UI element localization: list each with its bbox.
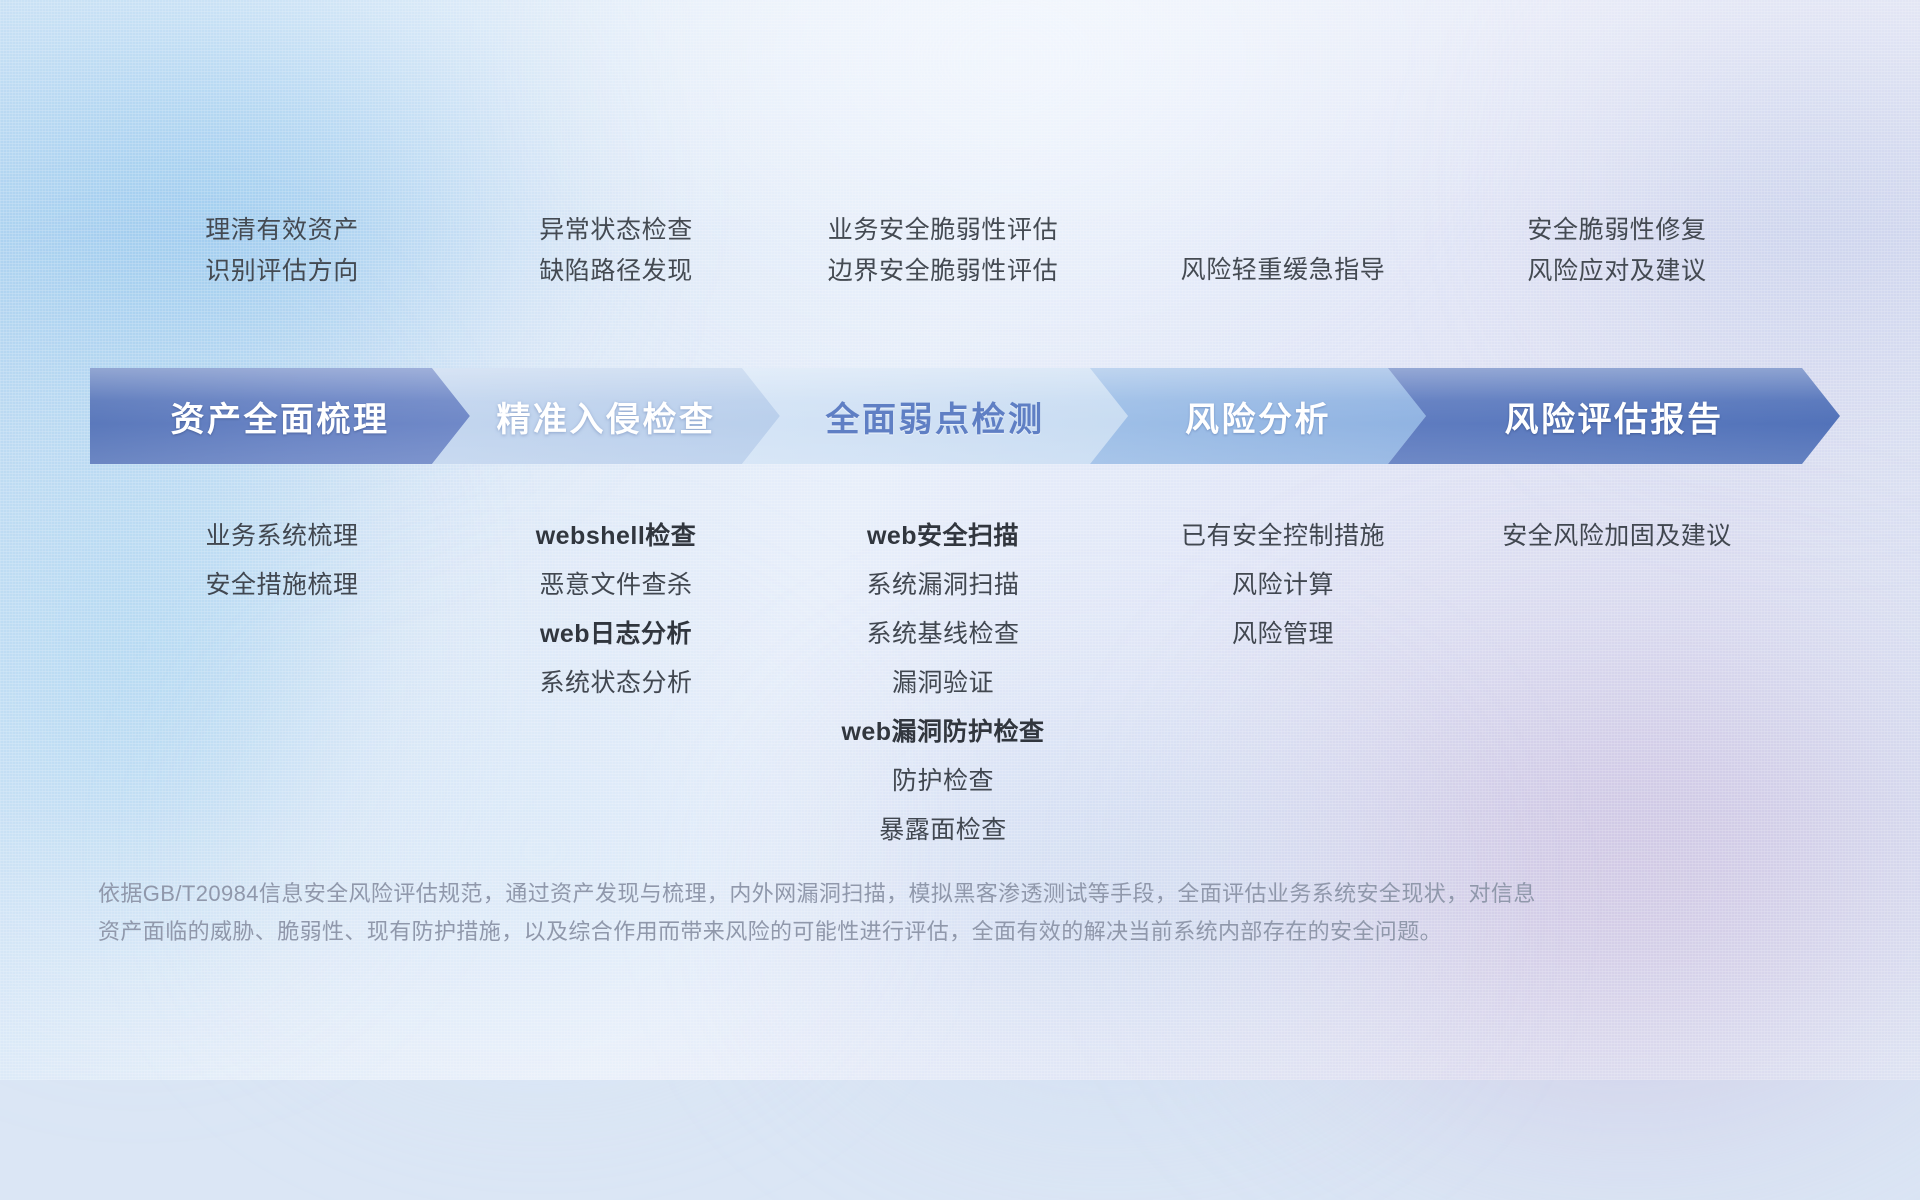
list-item: 漏洞验证 [892, 659, 994, 708]
list-item: 安全风险加固及建议 [1502, 512, 1732, 561]
top-note: 风险轻重缓急指导 [1181, 258, 1386, 283]
list-item: 安全措施梳理 [205, 561, 358, 610]
top-note: 安全脆弱性修复 [1527, 218, 1706, 243]
stage-chevron-banner: 资产全面梳理 精准入侵检查 全面弱点检测 风险分析 风险评估报告 [90, 368, 1840, 464]
top-note: 风险应对及建议 [1527, 259, 1706, 284]
list-item: 风险计算 [1232, 561, 1334, 610]
list-item: 系统漏洞扫描 [866, 561, 1019, 610]
list-item: 系统状态分析 [539, 659, 692, 708]
top-note: 缺陷路径发现 [539, 259, 693, 284]
top-notes-asset-inventory: 理清有效资产 识别评估方向 [96, 218, 468, 284]
top-notes-weakness-detection: 业务安全脆弱性评估 边界安全脆弱性评估 [764, 218, 1122, 284]
list-item: web安全扫描 [867, 512, 1019, 561]
top-note: 识别评估方向 [205, 259, 359, 284]
stage-items-row: 业务系统梳理 安全措施梳理 webshell检查 恶意文件查杀 web日志分析 … [96, 512, 1860, 855]
stage-chevron-assessment-report[interactable]: 风险评估报告 [1388, 368, 1840, 464]
list-item: 防护检查 [892, 757, 994, 806]
stage-label: 精准入侵检查 [497, 392, 716, 441]
footer-line: 资产面临的威胁、脆弱性、现有防护措施，以及综合作用而带来风险的可能性进行评估，全… [98, 913, 1618, 951]
stage-chevron-risk-analysis[interactable]: 风险分析 [1090, 368, 1426, 464]
top-note: 业务安全脆弱性评估 [828, 218, 1058, 243]
top-notes-assessment-report: 安全脆弱性修复 风险应对及建议 [1444, 218, 1790, 284]
top-notes-intrusion-check: 异常状态检查 缺陷路径发现 [468, 218, 764, 284]
top-note: 理清有效资产 [205, 218, 359, 243]
items-intrusion-check: webshell检查 恶意文件查杀 web日志分析 系统状态分析 [468, 512, 764, 708]
footer-description: 依据GB/T20984信息安全风险评估规范，通过资产发现与梳理，内外网漏洞扫描，… [98, 875, 1618, 951]
items-asset-inventory: 业务系统梳理 安全措施梳理 [96, 512, 468, 610]
list-item: 系统基线检查 [866, 610, 1019, 659]
process-diagram: 理清有效资产 识别评估方向 异常状态检查 缺陷路径发现 业务安全脆弱性评估 边界… [0, 0, 1920, 1080]
list-item: 暴露面检查 [879, 806, 1007, 855]
stage-label: 资产全面梳理 [171, 392, 390, 441]
list-item: 业务系统梳理 [205, 512, 358, 561]
top-notes-risk-analysis: 风险轻重缓急指导 [1122, 218, 1444, 283]
list-item: webshell检查 [536, 512, 697, 561]
list-item: web漏洞防护检查 [841, 708, 1044, 757]
items-risk-analysis: 已有安全控制措施 风险计算 风险管理 [1122, 512, 1444, 659]
stage-label: 风险分析 [1185, 392, 1331, 441]
stage-chevron-weakness-detection[interactable]: 全面弱点检测 [742, 368, 1128, 464]
top-note: 边界安全脆弱性评估 [828, 259, 1058, 284]
stage-chevron-intrusion-check[interactable]: 精准入侵检查 [432, 368, 780, 464]
footer-line: 依据GB/T20984信息安全风险评估规范，通过资产发现与梳理，内外网漏洞扫描，… [98, 875, 1618, 913]
list-item: 恶意文件查杀 [539, 561, 692, 610]
items-assessment-report: 安全风险加固及建议 [1444, 512, 1790, 561]
stage-label: 全面弱点检测 [826, 392, 1045, 441]
list-item: 风险管理 [1232, 610, 1334, 659]
top-note: 异常状态检查 [539, 218, 693, 243]
list-item: 已有安全控制措施 [1181, 512, 1385, 561]
top-notes-row: 理清有效资产 识别评估方向 异常状态检查 缺陷路径发现 业务安全脆弱性评估 边界… [96, 218, 1860, 284]
list-item: web日志分析 [540, 610, 692, 659]
stage-chevron-asset-inventory[interactable]: 资产全面梳理 [90, 368, 470, 464]
items-weakness-detection: web安全扫描 系统漏洞扫描 系统基线检查 漏洞验证 web漏洞防护检查 防护检… [764, 512, 1122, 855]
stage-label: 风险评估报告 [1505, 392, 1724, 441]
